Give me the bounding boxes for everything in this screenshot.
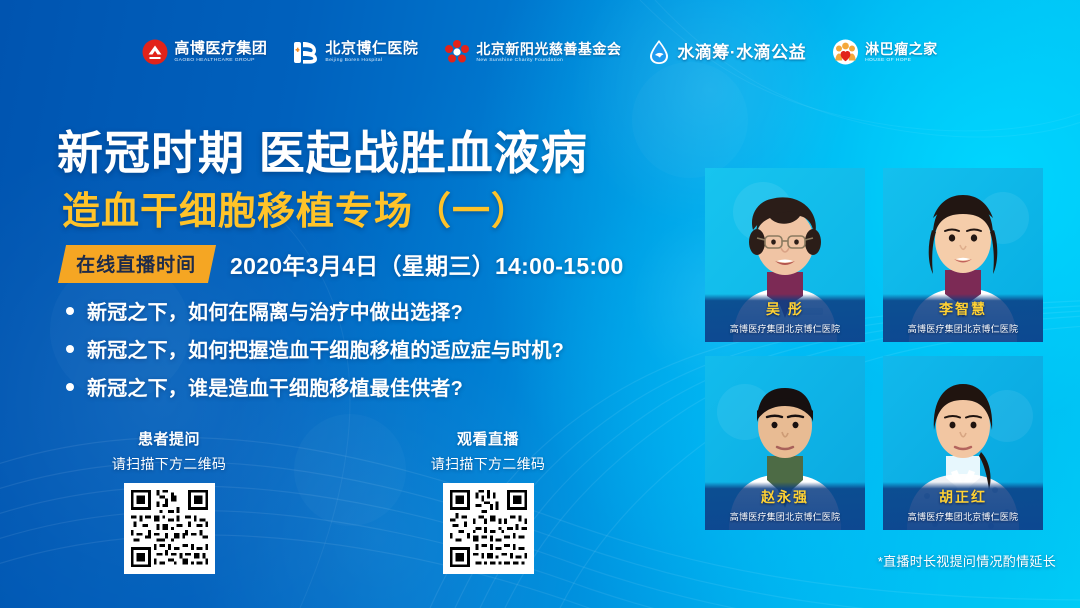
list-item: 新冠之下，如何把握造血干细胞移植的适应症与时机? bbox=[66, 334, 564, 363]
speaker-name-plate: 赵永强 高博医疗集团北京博仁医院 bbox=[705, 482, 865, 530]
shuidi-drop-logo-icon bbox=[647, 39, 671, 65]
speaker-name-plate: 胡正红 高博医疗集团北京博仁医院 bbox=[883, 482, 1043, 530]
qr-block-patient-question: 患者提问 请扫描下方二维码 bbox=[66, 428, 272, 574]
logo-label-en: HOUSE OF HOPE bbox=[865, 58, 938, 63]
logo-label-cn: 水滴筹·水滴公益 bbox=[677, 44, 806, 61]
speaker-card[interactable]: 吴 彤 高博医疗集团北京博仁医院 bbox=[705, 168, 865, 342]
speaker-name: 李智慧 bbox=[939, 299, 987, 319]
bullet-dot-icon bbox=[66, 307, 74, 315]
bullet-text: 新冠之下，如何在隔离与治疗中做出选择? bbox=[87, 296, 463, 325]
logo-label-en: Beijing Boren Hospital bbox=[325, 58, 418, 63]
gaobo-circle-logo-icon bbox=[142, 39, 168, 65]
sponsor-logo-bar: 高博医疗集团 GAOBO HEALTHCARE GROUP 北京博仁医院 Bei… bbox=[0, 28, 1080, 76]
speaker-card[interactable]: 李智慧 高博医疗集团北京博仁医院 bbox=[883, 168, 1043, 342]
qr-title: 患者提问 bbox=[138, 428, 200, 449]
logo-label-en: New Sunshine Charity Foundation bbox=[476, 58, 621, 63]
speaker-name: 吴 彤 bbox=[766, 299, 804, 319]
speaker-org: 高博医疗集团北京博仁医院 bbox=[908, 510, 1018, 523]
logo-beijing-boren-hospital: 北京博仁医院 Beijing Boren Hospital bbox=[293, 39, 418, 66]
qr-block-watch-live: 观看直播 请扫描下方二维码 bbox=[385, 428, 591, 574]
poster-title-main: 新冠时期 医起战胜血液病 bbox=[57, 117, 588, 183]
logo-shuidichou-shuidi-gongyi: 水滴筹·水滴公益 bbox=[647, 39, 806, 65]
speaker-org: 高博医疗集团北京博仁医院 bbox=[730, 510, 840, 523]
qr-title: 观看直播 bbox=[457, 428, 519, 449]
live-time-value: 2020年3月4日（星期三）14:00-15:00 bbox=[230, 247, 624, 281]
live-time-row: 在线直播时间 2020年3月4日（星期三）14:00-15:00 bbox=[62, 245, 624, 283]
list-item: 新冠之下，如何在隔离与治疗中做出选择? bbox=[66, 296, 564, 325]
speaker-name: 胡正红 bbox=[939, 487, 987, 507]
speaker-card[interactable]: 胡正红 高博医疗集团北京博仁医院 bbox=[883, 356, 1043, 530]
logo-label-en: GAOBO HEALTHCARE GROUP bbox=[174, 58, 267, 63]
logo-new-sunshine-charity-foundation: 北京新阳光慈善基金会 New Sunshine Charity Foundati… bbox=[444, 39, 621, 65]
speaker-org: 高博医疗集团北京博仁医院 bbox=[908, 322, 1018, 335]
topic-bullet-list: 新冠之下，如何在隔离与治疗中做出选择? 新冠之下，如何把握造血干细胞移植的适应症… bbox=[66, 296, 564, 410]
bullet-dot-icon bbox=[66, 345, 74, 353]
lymphoma-home-logo-icon bbox=[832, 39, 859, 65]
speaker-name: 赵永强 bbox=[761, 487, 809, 507]
logo-gaobo-healthcare-group: 高博医疗集团 GAOBO HEALTHCARE GROUP bbox=[142, 39, 267, 65]
speaker-card[interactable]: 赵永强 高博医疗集团北京博仁医院 bbox=[705, 356, 865, 530]
logo-lymphoma-home: 淋巴瘤之家 HOUSE OF HOPE bbox=[832, 39, 938, 65]
poster-canvas: 高博医疗集团 GAOBO HEALTHCARE GROUP 北京博仁医院 Bei… bbox=[0, 0, 1080, 608]
qr-code-patient-question[interactable] bbox=[124, 483, 215, 574]
speaker-name-plate: 吴 彤 高博医疗集团北京博仁医院 bbox=[705, 294, 865, 342]
footnote-text: *直播时长视提问情况酌情延长 bbox=[878, 551, 1056, 570]
qr-subtitle: 请扫描下方二维码 bbox=[431, 454, 545, 474]
logo-label-cn: 北京新阳光慈善基金会 bbox=[476, 42, 621, 56]
logo-label-cn: 高博医疗集团 bbox=[174, 41, 267, 56]
speaker-org: 高博医疗集团北京博仁医院 bbox=[730, 322, 840, 335]
logo-label-cn: 北京博仁医院 bbox=[325, 41, 418, 56]
qr-code-section: 患者提问 请扫描下方二维码 bbox=[66, 428, 591, 574]
qr-subtitle: 请扫描下方二维码 bbox=[112, 454, 226, 474]
list-item: 新冠之下，谁是造血干细胞移植最佳供者? bbox=[66, 372, 564, 401]
logo-label-cn: 淋巴瘤之家 bbox=[865, 42, 938, 56]
bullet-text: 新冠之下，谁是造血干细胞移植最佳供者? bbox=[87, 372, 463, 401]
poster-title-sub: 造血干细胞移植专场（一） bbox=[62, 180, 530, 235]
new-sunshine-flower-logo-icon bbox=[444, 39, 470, 65]
live-time-badge: 在线直播时间 bbox=[58, 245, 216, 283]
speaker-grid: 吴 彤 高博医疗集团北京博仁医院 bbox=[705, 168, 1043, 530]
qr-code-watch-live[interactable] bbox=[443, 483, 534, 574]
bullet-text: 新冠之下，如何把握造血干细胞移植的适应症与时机? bbox=[87, 334, 564, 363]
speaker-name-plate: 李智慧 高博医疗集团北京博仁医院 bbox=[883, 294, 1043, 342]
live-time-badge-label: 在线直播时间 bbox=[76, 250, 196, 277]
boren-hospital-logo-icon bbox=[293, 39, 319, 66]
bullet-dot-icon bbox=[66, 383, 74, 391]
